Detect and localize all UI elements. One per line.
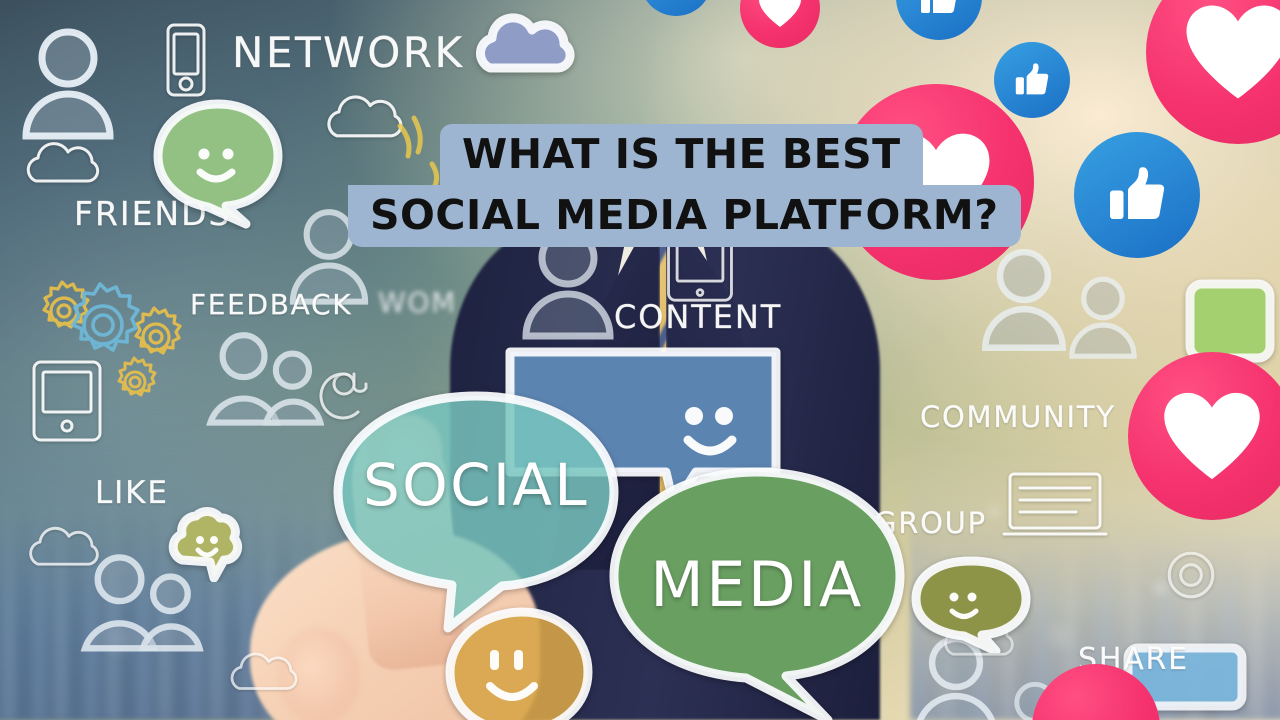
label-community: COMMUNITY — [920, 400, 1116, 434]
cloud-bubble-icon — [468, 6, 578, 78]
promo-graphic-canvas: NETWORK FRIENDS FEEDBACK WOM CONTENT LIK… — [0, 0, 1280, 720]
user-avatar-icon — [1066, 276, 1140, 358]
speech-bubble-media: MEDIA — [600, 462, 914, 720]
at-sign-icon — [1162, 546, 1220, 604]
speech-bubble-social: SOCIAL — [328, 386, 624, 636]
thumbs-up-icon — [1014, 62, 1050, 98]
user-avatar-icon — [978, 248, 1070, 350]
user-avatar-icon — [18, 28, 118, 138]
gears-icon — [22, 270, 202, 390]
laptop-icon — [1002, 470, 1108, 540]
mobile-phone-icon — [164, 22, 208, 98]
cloud-icon — [226, 646, 304, 694]
cloud-icon — [24, 520, 106, 570]
heart-icon — [1162, 390, 1262, 482]
label-wom: WOM — [378, 286, 457, 319]
users-group-icon — [206, 330, 330, 426]
label-feedback: FEEDBACK — [190, 288, 352, 321]
label-like: LIKE — [95, 475, 169, 511]
heart-icon — [758, 0, 802, 28]
headline-line-2: SOCIAL MEDIA PLATFORM? — [348, 185, 1021, 247]
cloud-icon — [22, 135, 106, 187]
chalk-doodle-layer: NETWORK FRIENDS FEEDBACK WOM CONTENT LIK… — [0, 0, 1280, 720]
label-network: NETWORK — [232, 28, 465, 77]
speech-bubble-smiley-olive-cloud — [162, 498, 248, 582]
reaction-thumbsup-icon[interactable] — [994, 42, 1070, 118]
speech-bubble-smiley-green — [150, 96, 286, 230]
reaction-thumbsup-icon[interactable] — [1074, 132, 1200, 258]
headline-line-1: WHAT IS THE BEST — [440, 124, 923, 186]
thumbs-up-icon — [919, 0, 959, 17]
green-screen-icon — [1182, 278, 1278, 364]
speech-bubble-smiley-olive — [908, 555, 1034, 653]
heart-icon — [1184, 3, 1280, 101]
label-content: CONTENT — [614, 298, 782, 336]
headline-banner: WHAT IS THE BEST SOCIAL MEDIA PLATFORM? — [348, 124, 1028, 247]
speech-bubble-media-label: MEDIA — [650, 548, 864, 621]
thumbs-up-icon — [1107, 165, 1167, 225]
speech-bubble-smiley-orange — [442, 604, 602, 720]
speech-bubble-social-label: SOCIAL — [363, 451, 589, 519]
